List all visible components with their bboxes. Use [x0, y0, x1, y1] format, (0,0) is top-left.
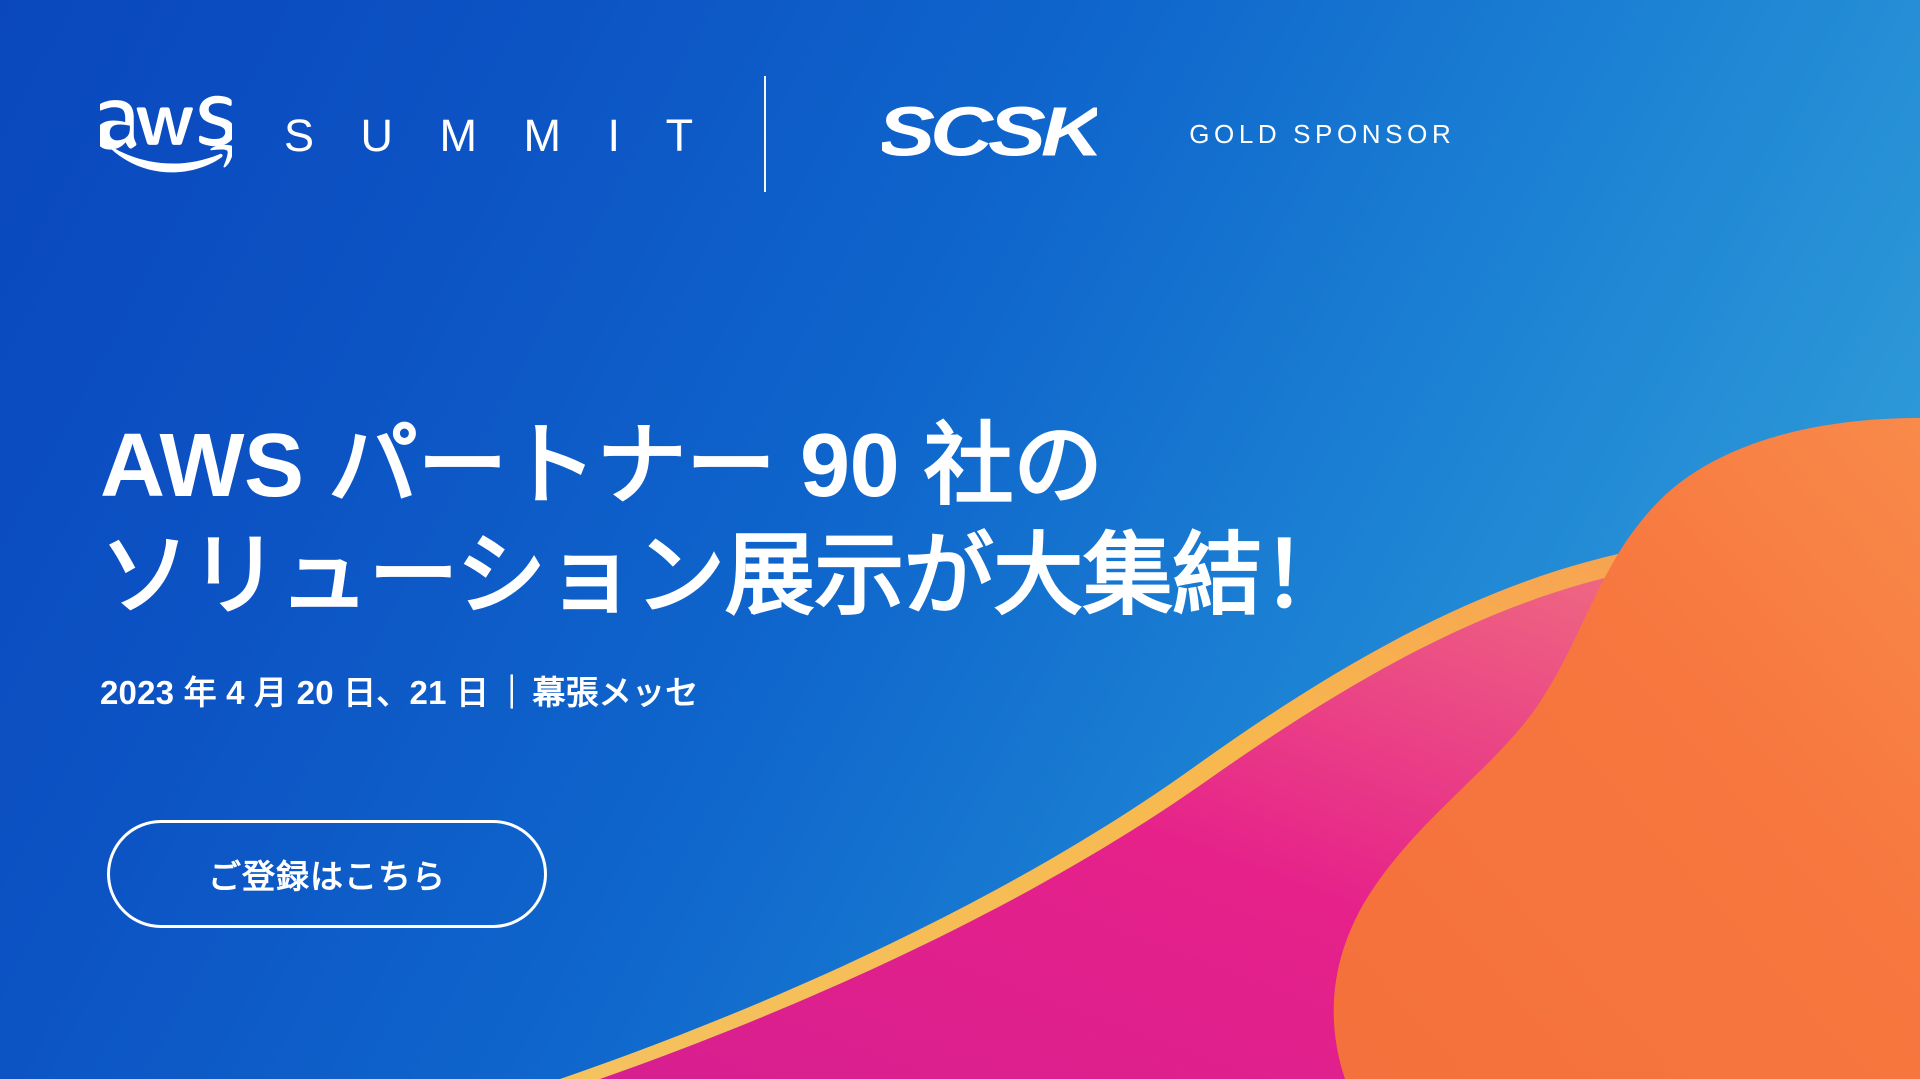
svg-text:SCSK: SCSK: [882, 93, 1097, 171]
event-date: 2023 年 4 月 20 日、21 日: [100, 674, 489, 711]
headline-line-2: ソリューション展示が大集結！: [100, 522, 1351, 632]
wave-orange-shape: [1334, 418, 1920, 1079]
date-venue-separator: ｜: [495, 666, 528, 714]
aws-logo-icon: [100, 88, 232, 180]
headline-line-1: AWS パートナー 90 社の: [100, 412, 1351, 522]
event-date-venue: 2023 年 4 月 20 日、21 日｜幕張メッセ: [100, 666, 698, 714]
register-button[interactable]: ご登録はこちら: [107, 820, 547, 928]
page-title: AWS パートナー 90 社の ソリューション展示が大集結！: [100, 412, 1351, 632]
wave-magenta-shape: [600, 555, 1920, 1079]
aws-summit-promo-banner: S U M M I T SCSK GOLD SPONSOR AWS パートナー …: [0, 0, 1920, 1079]
banner-header: S U M M I T SCSK GOLD SPONSOR: [100, 88, 1455, 180]
gold-sponsor-label: GOLD SPONSOR: [1189, 121, 1455, 147]
summit-wordmark: S U M M I T: [284, 111, 710, 158]
event-venue: 幕張メッセ: [532, 674, 698, 711]
header-divider: [764, 76, 766, 192]
scsk-logo-icon: SCSK: [882, 92, 1097, 176]
